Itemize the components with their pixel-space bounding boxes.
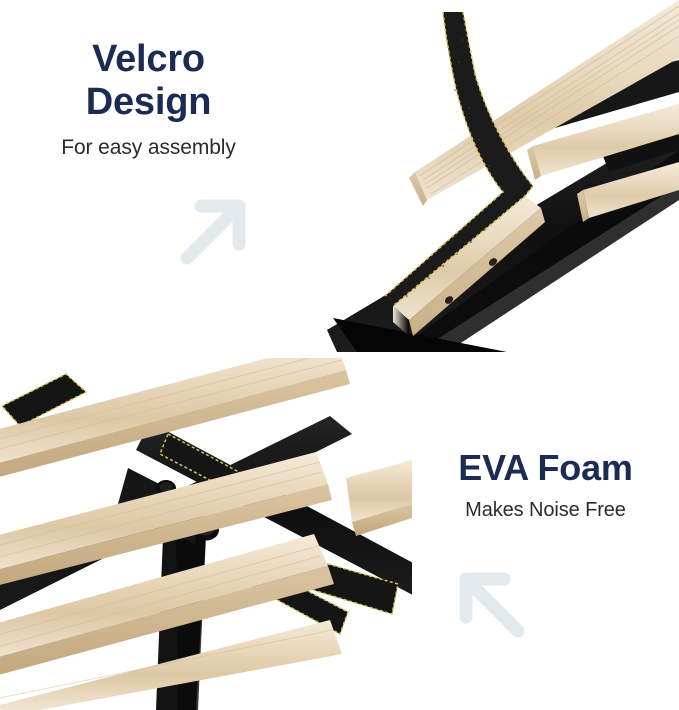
velcro-headline: Velcro Design — [86, 38, 212, 123]
eva-photo-panel — [0, 358, 412, 710]
product-feature-infographic: Velcro Design For easy assembly — [0, 0, 679, 710]
velcro-headline-line-2: Design — [86, 81, 212, 124]
velcro-headline-line-1: Velcro — [86, 38, 212, 81]
velcro-subhead: For easy assembly — [61, 135, 236, 160]
velcro-photo-panel — [297, 0, 679, 352]
velcro-text-block: Velcro Design For easy assembly — [0, 38, 297, 160]
eva-text-panel — [412, 358, 679, 710]
eva-headline: EVA Foam — [458, 448, 632, 488]
eva-text-block: EVA Foam Makes Noise Free — [412, 448, 679, 522]
arrow-up-right-icon — [175, 192, 253, 270]
arrow-up-left-icon — [452, 565, 530, 643]
eva-subhead: Makes Noise Free — [465, 498, 626, 522]
eva-headline-line-1: EVA Foam — [458, 447, 632, 488]
